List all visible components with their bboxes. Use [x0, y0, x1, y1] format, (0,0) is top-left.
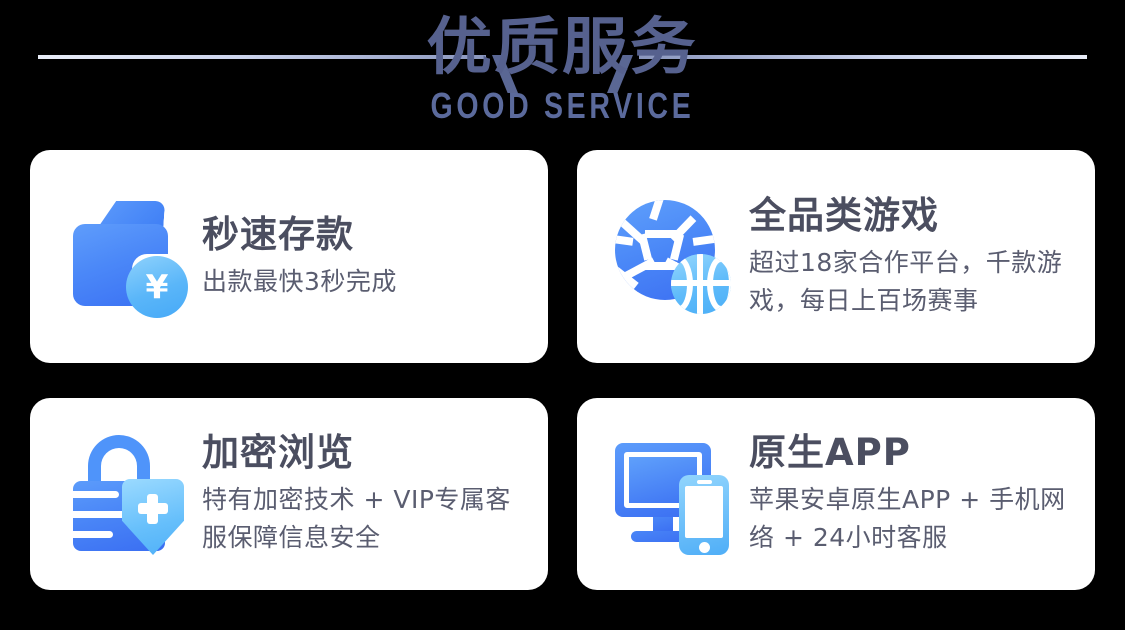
phone-speaker [697, 480, 712, 484]
phone-home-button [699, 542, 710, 553]
feature-card-subtitle: 出款最快3秒完成 [202, 263, 397, 301]
lock-shield-icon [66, 433, 188, 555]
feature-card-subtitle: 特有加密技术 + VIP专属客服保障信息安全 [202, 481, 532, 557]
feature-card-encryption-text: 加密浏览 特有加密技术 + VIP专属客服保障信息安全 [202, 431, 532, 557]
feature-card-title: 秒速存款 [202, 213, 397, 257]
feature-card-games[interactable]: 全品类游戏 超过18家合作平台，千款游戏，每日上百场赛事 [577, 150, 1095, 363]
phone-screen [685, 486, 723, 538]
yen-symbol: ¥ [146, 270, 169, 303]
feature-card-games-text: 全品类游戏 超过18家合作平台，千款游戏，每日上百场赛事 [749, 194, 1079, 320]
yen-coin-icon: ¥ [126, 256, 188, 318]
header-text-block: 优质服务 GOOD SERVICE [0, 8, 1125, 124]
feature-card-native-app[interactable]: 原生APP 苹果安卓原生APP + 手机网络 + 24小时客服 [577, 398, 1095, 590]
feature-card-subtitle: 超过18家合作平台，千款游戏，每日上百场赛事 [749, 244, 1079, 320]
feature-card-title: 加密浏览 [202, 431, 532, 475]
feature-card-grid: ¥ 秒速存款 出款最快3秒完成 [30, 150, 1095, 590]
page-header: 优质服务 GOOD SERVICE [0, 0, 1125, 148]
shield-cross-vertical [147, 494, 158, 524]
feature-card-deposit-text: 秒速存款 出款最快3秒完成 [202, 213, 397, 301]
page-root: 优质服务 GOOD SERVICE ¥ 秒速存款 出款最快3秒完成 [0, 0, 1125, 630]
feature-card-title: 全品类游戏 [749, 194, 1079, 238]
feature-card-deposit[interactable]: ¥ 秒速存款 出款最快3秒完成 [30, 150, 548, 363]
basketball-icon [671, 254, 731, 314]
wallet-yen-icon: ¥ [66, 196, 188, 318]
monitor-phone-icon [613, 433, 735, 555]
smartphone-icon [679, 475, 729, 555]
feature-card-title: 原生APP [749, 431, 1084, 475]
page-title: 优质服务 [427, 8, 698, 86]
feature-card-encryption[interactable]: 加密浏览 特有加密技术 + VIP专属客服保障信息安全 [30, 398, 548, 590]
feature-card-native-app-text: 原生APP 苹果安卓原生APP + 手机网络 + 24小时客服 [749, 431, 1084, 557]
page-subtitle: GOOD SERVICE [431, 85, 695, 127]
feature-card-subtitle: 苹果安卓原生APP + 手机网络 + 24小时客服 [749, 481, 1084, 557]
soccer-basketball-icon [613, 196, 735, 318]
